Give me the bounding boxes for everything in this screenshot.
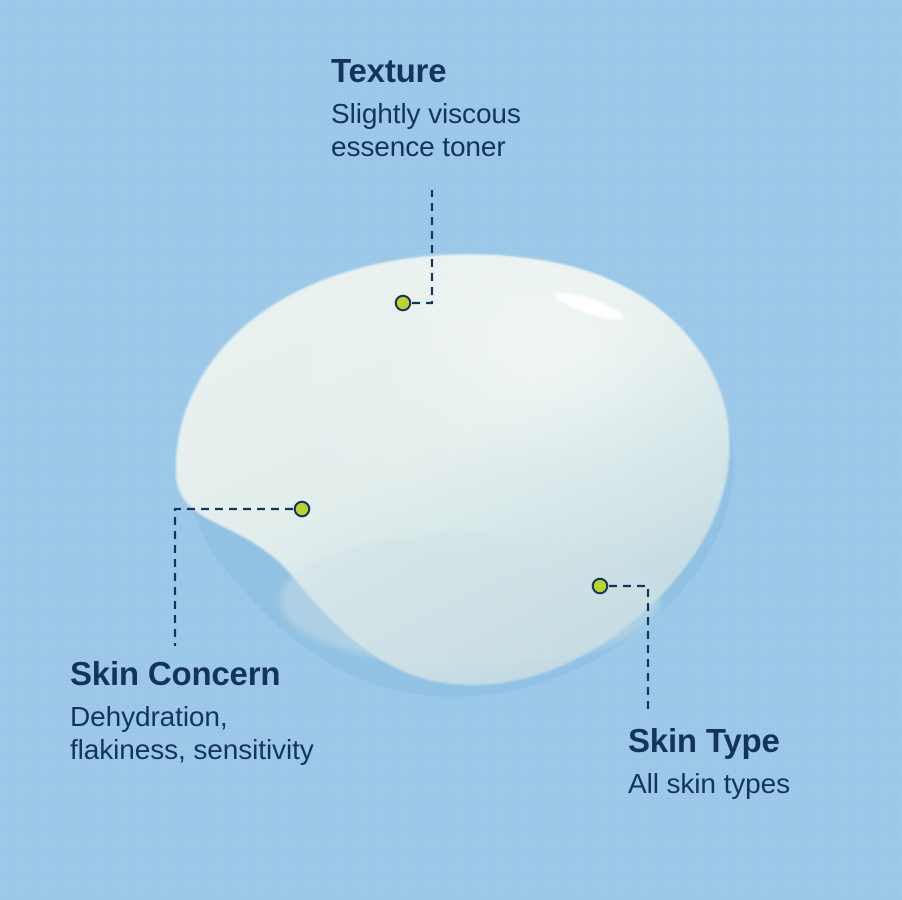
callout-texture-description-line2: essence toner xyxy=(331,130,591,163)
callout-texture-title: Texture xyxy=(331,52,591,91)
callout-texture: Texture Slightly viscous essence toner xyxy=(331,52,591,163)
callout-skin-concern-description-line1: Dehydration, xyxy=(70,700,400,733)
marker-dot-skin-concern xyxy=(295,502,309,516)
marker-dot-texture xyxy=(396,296,410,310)
toner-droplet xyxy=(176,254,729,684)
callout-texture-description-line1: Slightly viscous xyxy=(331,97,591,130)
callout-skin-type-description-line1: All skin types xyxy=(628,767,878,800)
callout-skin-type: Skin Type All skin types xyxy=(628,722,878,800)
callout-skin-type-title: Skin Type xyxy=(628,722,878,761)
marker-dot-skin-type xyxy=(593,579,607,593)
callout-skin-concern-title: Skin Concern xyxy=(70,655,400,694)
callout-skin-concern-description-line2: flakiness, sensitivity xyxy=(70,733,400,766)
infographic-canvas: Texture Slightly viscous essence toner S… xyxy=(0,0,902,900)
callout-skin-concern: Skin Concern Dehydration, flakiness, sen… xyxy=(70,655,400,766)
